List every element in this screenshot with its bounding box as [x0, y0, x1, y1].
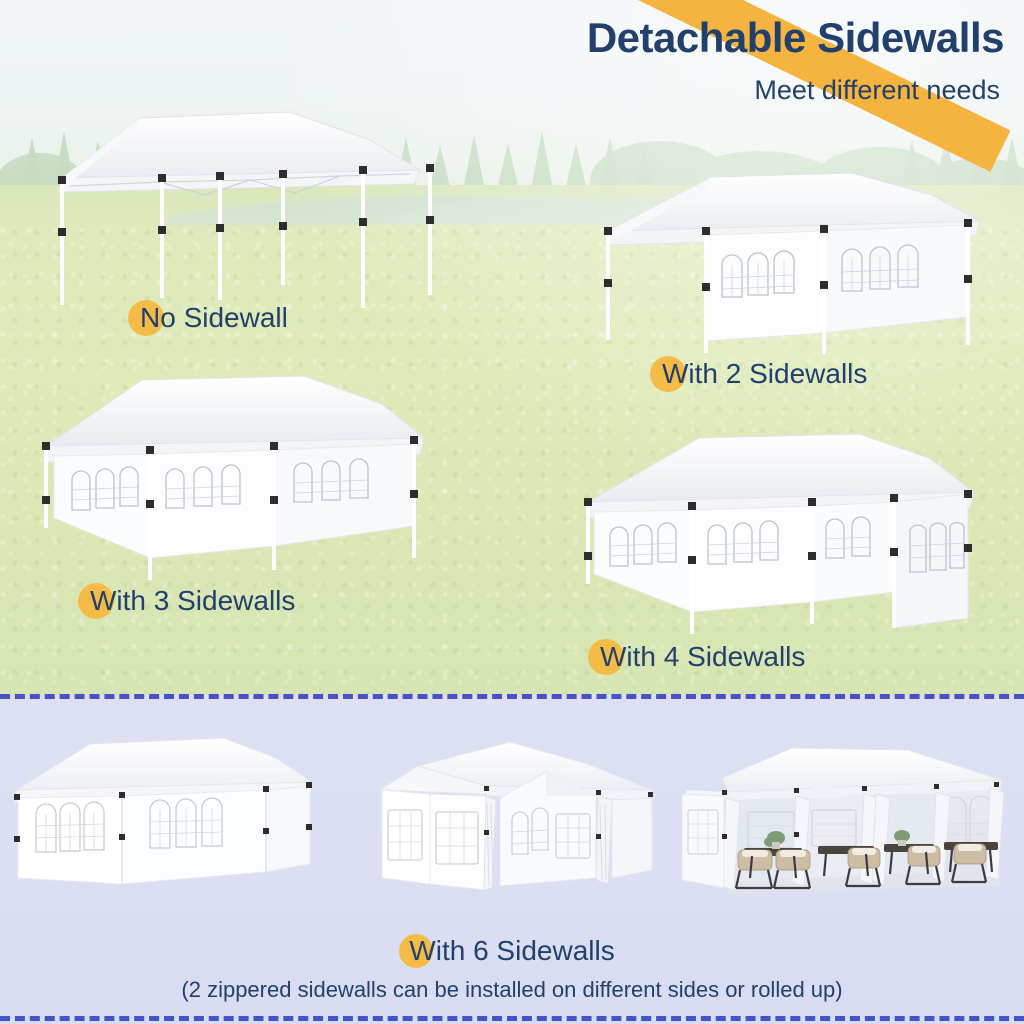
tent-no-sidewall: [40, 100, 440, 310]
caption-4-sidewalls: With 4 Sidewalls: [600, 641, 805, 673]
tent-6-sidewalls-closed: [4, 732, 324, 917]
page-title: Detachable Sidewalls: [0, 14, 1004, 62]
divider-bottom: [0, 1016, 1024, 1021]
tent-3-sidewalls: [32, 368, 437, 593]
page-subtitle: Meet different needs: [0, 75, 1000, 106]
caption-label: No Sidewall: [140, 302, 288, 333]
tent-6-sidewalls-door-open: [360, 738, 665, 920]
tent-4-sidewalls: [574, 428, 994, 643]
bottom-note: (2 zippered sidewalls can be installed o…: [0, 977, 1024, 1003]
caption-label: With 4 Sidewalls: [600, 641, 805, 672]
caption-label: With 2 Sidewalls: [662, 358, 867, 389]
bottom-caption-label: With 6 Sidewalls: [409, 935, 614, 966]
caption-label: With 3 Sidewalls: [90, 585, 295, 616]
bottom-caption-row: With 6 Sidewalls: [0, 935, 1024, 967]
infographic-page: No Sidewall With 2 Sidewalls With 3 Side…: [0, 0, 1024, 1024]
bottom-section: With 6 Sidewalls (2 zippered sidewalls c…: [0, 694, 1024, 1024]
caption-3-sidewalls: With 3 Sidewalls: [90, 585, 295, 617]
tent-2-sidewalls: [592, 165, 1012, 370]
divider-top: [0, 694, 1024, 699]
caption-no-sidewall: No Sidewall: [140, 302, 288, 334]
tent-6-sidewalls-rolled-up: [672, 738, 1020, 920]
caption-2-sidewalls: With 2 Sidewalls: [662, 358, 867, 390]
